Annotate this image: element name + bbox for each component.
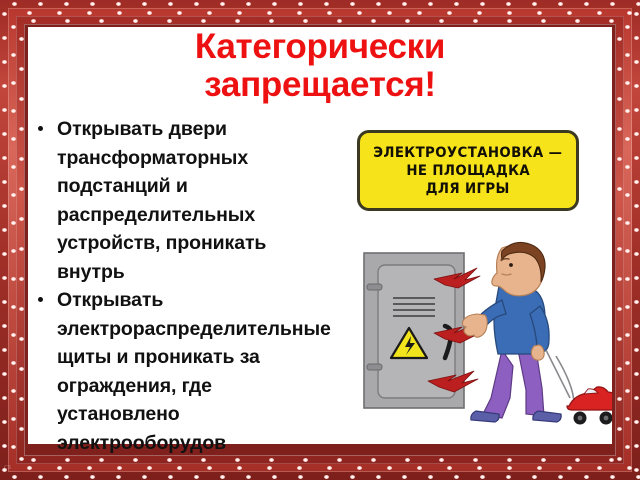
frame-light-dot — [636, 2, 640, 6]
frame-light-dot — [428, 475, 433, 479]
frame-light-dot — [38, 2, 43, 6]
frame-light-dot — [19, 337, 24, 341]
frame-light-dot — [87, 466, 92, 470]
frame-light-dot — [439, 19, 444, 23]
frame-light-dot — [2, 396, 7, 400]
frame-light-dot — [447, 11, 452, 15]
frame-light-dot — [634, 84, 639, 88]
frame-light-dot — [168, 475, 173, 479]
frame-light-dot — [541, 19, 546, 23]
frame-light-dot — [147, 11, 152, 15]
frame-light-dot — [405, 19, 410, 23]
frame-light-dot — [11, 333, 16, 337]
frame-light-dot — [617, 457, 622, 461]
frame-light-dot — [575, 19, 580, 23]
frame-light-dot — [371, 458, 376, 462]
frame-light-dot — [634, 204, 639, 208]
frame-light-dot — [625, 137, 630, 141]
page-title-line-1: Категорически — [34, 28, 606, 66]
frame-light-dot — [558, 475, 563, 479]
frame-light-dot — [2, 108, 7, 112]
frame-light-dot — [597, 11, 602, 15]
warning-sign-line-2: НЕ ПЛОЩАДКА — [406, 163, 530, 179]
frame-light-dot — [201, 19, 206, 23]
frame-light-dot — [2, 420, 7, 424]
frame-light-dot — [31, 19, 36, 23]
frame-light-dot — [11, 305, 16, 309]
frame-light-dot — [19, 67, 24, 71]
frame-light-dot — [507, 19, 512, 23]
frame-light-dot — [27, 11, 32, 15]
frame-light-dot — [269, 19, 274, 23]
warning-sign-line-3: ДЛЯ ИГРЫ — [426, 181, 510, 197]
frame-light-dot — [417, 466, 422, 470]
frame-light-dot — [2, 60, 7, 64]
frame-light-dot — [439, 458, 444, 462]
frame-light-dot — [177, 11, 182, 15]
frame-light-dot — [567, 466, 572, 470]
frame-light-dot — [168, 2, 173, 6]
frame-light-dot — [402, 2, 407, 6]
frame-light-dot — [625, 389, 630, 393]
frame-light-dot — [617, 397, 622, 401]
frame-light-dot — [532, 2, 537, 6]
frame-light-dot — [617, 367, 622, 371]
frame-light-dot — [11, 277, 16, 281]
frame-light-dot — [634, 12, 639, 16]
frame-light-dot — [19, 277, 24, 281]
list-item: Открывать электрораспределительные щиты … — [30, 286, 330, 457]
frame-light-dot — [617, 337, 622, 341]
frame-light-dot — [11, 137, 16, 141]
frame-light-dot — [636, 475, 640, 479]
frame-light-dot — [634, 180, 639, 184]
frame-light-dot — [303, 458, 308, 462]
frame-light-dot — [634, 108, 639, 112]
frame-light-dot — [237, 466, 242, 470]
frame-light-dot — [2, 300, 7, 304]
frame-light-dot — [537, 466, 542, 470]
frame-light-dot — [627, 11, 632, 15]
frame-light-dot — [537, 11, 542, 15]
frame-light-dot — [617, 157, 622, 161]
frame-light-dot — [133, 19, 138, 23]
frame-light-dot — [327, 11, 332, 15]
frame-light-dot — [405, 458, 410, 462]
frame-light-dot — [625, 333, 630, 337]
frame-light-dot — [303, 19, 308, 23]
frame-light-dot — [2, 276, 7, 280]
frame-light-dot — [297, 466, 302, 470]
frame-light-dot — [627, 466, 632, 470]
frame-light-dot — [2, 180, 7, 184]
frame-light-dot — [625, 81, 630, 85]
frame-light-dot — [11, 417, 16, 421]
frame-light-dot — [11, 249, 16, 253]
list-item-text: Открывать электрораспределительные щиты … — [57, 289, 331, 454]
list-item-text: Открывать двери трансформаторных подстан… — [57, 118, 266, 283]
slide: Категорически запрещается! Открывать две… — [0, 0, 640, 480]
frame-light-dot — [617, 427, 622, 431]
frame-light-dot — [11, 445, 16, 449]
frame-light-dot — [11, 361, 16, 365]
frame-light-dot — [2, 252, 7, 256]
frame-light-dot — [634, 132, 639, 136]
frame-light-dot — [428, 2, 433, 6]
frame-light-dot — [2, 444, 7, 448]
frame-light-dot — [87, 11, 92, 15]
frame-light-dot — [625, 53, 630, 57]
page-title: Категорически запрещается! — [34, 28, 606, 104]
frame-light-dot — [507, 458, 512, 462]
frame-light-dot — [272, 2, 277, 6]
frame-light-dot — [617, 67, 622, 71]
frame-light-dot — [12, 2, 17, 6]
child-figure-icon — [462, 242, 561, 422]
frame-light-dot — [272, 475, 277, 479]
frame-light-dot — [634, 396, 639, 400]
frame-light-dot — [2, 132, 7, 136]
frame-light-dot — [142, 475, 147, 479]
frame-light-dot — [235, 19, 240, 23]
prohibition-list: Открывать двери трансформаторных подстан… — [30, 115, 330, 457]
frame-light-dot — [19, 37, 24, 41]
frame-light-dot — [207, 11, 212, 15]
frame-light-dot — [634, 276, 639, 280]
frame-light-dot — [99, 458, 104, 462]
frame-light-dot — [625, 361, 630, 365]
frame-light-dot — [610, 2, 615, 6]
frame-light-dot — [237, 11, 242, 15]
frame-light-dot — [506, 2, 511, 6]
frame-light-dot — [11, 193, 16, 197]
frame-light-dot — [477, 11, 482, 15]
frame-light-dot — [11, 221, 16, 225]
frame-light-dot — [480, 475, 485, 479]
frame-light-dot — [2, 36, 7, 40]
frame-light-dot — [246, 475, 251, 479]
frame-light-dot — [597, 466, 602, 470]
frame-light-dot — [473, 19, 478, 23]
frame-light-dot — [298, 475, 303, 479]
frame-light-dot — [201, 458, 206, 462]
frame-light-dot — [625, 221, 630, 225]
warning-sign-line-1: ЭЛЕКТРОУСТАНОВКА — — [373, 145, 562, 161]
frame-light-dot — [116, 2, 121, 6]
frame-light-dot — [11, 81, 16, 85]
frame-light-dot — [19, 97, 24, 101]
frame-light-dot — [617, 97, 622, 101]
frame-light-dot — [625, 249, 630, 253]
frame-light-dot — [90, 475, 95, 479]
frame-light-dot — [454, 475, 459, 479]
frame-light-dot — [584, 475, 589, 479]
frame-light-dot — [2, 156, 7, 160]
frame-light-dot — [634, 372, 639, 376]
frame-light-dot — [2, 348, 7, 352]
frame-light-dot — [634, 36, 639, 40]
frame-light-dot — [625, 277, 630, 281]
frame-light-dot — [357, 11, 362, 15]
frame-light-dot — [532, 475, 537, 479]
bullet-icon — [38, 126, 43, 131]
frame-light-dot — [19, 187, 24, 191]
frame-light-dot — [117, 11, 122, 15]
frame-light-dot — [147, 466, 152, 470]
frame-light-dot — [167, 458, 172, 462]
frame-light-dot — [194, 2, 199, 6]
frame-light-dot — [11, 389, 16, 393]
frame-light-dot — [625, 109, 630, 113]
frame-light-dot — [267, 11, 272, 15]
frame-light-dot — [11, 109, 16, 113]
frame-light-dot — [324, 2, 329, 6]
frame-light-dot — [376, 2, 381, 6]
frame-light-dot — [99, 19, 104, 23]
frame-light-dot — [617, 217, 622, 221]
frame-light-dot — [297, 11, 302, 15]
frame-light-dot — [507, 466, 512, 470]
frame-light-dot — [634, 252, 639, 256]
frame-light-dot — [19, 397, 24, 401]
frame-light-dot — [269, 458, 274, 462]
frame-light-dot — [609, 458, 614, 462]
frame-light-dot — [387, 466, 392, 470]
frame-light-dot — [65, 19, 70, 23]
frame-light-dot — [11, 165, 16, 169]
frame-light-dot — [298, 2, 303, 6]
frame-light-dot — [220, 2, 225, 6]
frame-light-dot — [625, 305, 630, 309]
frame-light-dot — [617, 307, 622, 311]
frame-light-dot — [473, 458, 478, 462]
frame-light-dot — [133, 458, 138, 462]
frame-light-dot — [558, 2, 563, 6]
frame-light-dot — [634, 300, 639, 304]
frame-light-dot — [142, 2, 147, 6]
frame-light-dot — [116, 475, 121, 479]
frame-light-dot — [235, 458, 240, 462]
safety-illustration — [350, 238, 612, 438]
watermark: cs — [4, 462, 74, 476]
frame-light-dot — [19, 217, 24, 221]
frame-light-dot — [19, 157, 24, 161]
frame-light-dot — [177, 466, 182, 470]
frame-light-dot — [454, 2, 459, 6]
warning-sign: ЭЛЕКТРОУСТАНОВКА — НЕ ПЛОЩАДКА ДЛЯ ИГРЫ — [357, 130, 579, 211]
frame-light-dot — [337, 19, 342, 23]
bullet-icon — [38, 297, 43, 302]
frame-light-dot — [617, 127, 622, 131]
frame-light-dot — [625, 445, 630, 449]
frame-light-dot — [327, 466, 332, 470]
frame-light-dot — [2, 228, 7, 232]
frame-light-dot — [376, 475, 381, 479]
frame-light-dot — [64, 2, 69, 6]
frame-light-dot — [2, 84, 7, 88]
frame-light-dot — [634, 324, 639, 328]
frame-light-dot — [57, 11, 62, 15]
frame-light-dot — [417, 11, 422, 15]
frame-light-dot — [267, 466, 272, 470]
frame-light-dot — [575, 458, 580, 462]
frame-light-dot — [447, 466, 452, 470]
frame-light-dot — [194, 475, 199, 479]
frame-light-dot — [617, 187, 622, 191]
frame-light-dot — [350, 2, 355, 6]
frame-light-dot — [506, 475, 511, 479]
frame-light-dot — [634, 348, 639, 352]
frame-light-dot — [167, 19, 172, 23]
frame-light-dot — [220, 475, 225, 479]
frame-light-dot — [357, 466, 362, 470]
frame-light-dot — [371, 19, 376, 23]
frame-light-dot — [19, 127, 24, 131]
frame-light-dot — [634, 228, 639, 232]
frame-light-dot — [625, 25, 630, 29]
frame-light-dot — [2, 204, 7, 208]
frame-light-dot — [350, 475, 355, 479]
frame-light-dot — [610, 475, 615, 479]
frame-light-dot — [19, 307, 24, 311]
frame-light-dot — [634, 420, 639, 424]
frame-light-dot — [402, 475, 407, 479]
frame-light-dot — [625, 417, 630, 421]
frame-light-dot — [625, 193, 630, 197]
frame-light-dot — [609, 19, 614, 23]
frame-light-dot — [634, 444, 639, 448]
frame-light-dot — [617, 37, 622, 41]
list-item: Открывать двери трансформаторных подстан… — [30, 115, 330, 286]
frame-light-dot — [387, 11, 392, 15]
frame-light-dot — [617, 277, 622, 281]
frame-light-dot — [117, 466, 122, 470]
frame-light-dot — [584, 2, 589, 6]
frame-light-dot — [90, 2, 95, 6]
frame-light-dot — [19, 367, 24, 371]
frame-light-dot — [480, 2, 485, 6]
frame-light-dot — [19, 427, 24, 431]
frame-light-dot — [19, 457, 24, 461]
frame-light-dot — [477, 466, 482, 470]
frame-light-dot — [2, 324, 7, 328]
frame-light-dot — [11, 25, 16, 29]
frame-light-dot — [567, 11, 572, 15]
frame-light-dot — [2, 372, 7, 376]
frame-light-dot — [617, 247, 622, 251]
frame-light-dot — [634, 156, 639, 160]
frame-light-dot — [2, 12, 7, 16]
frame-light-dot — [634, 60, 639, 64]
frame-light-dot — [625, 165, 630, 169]
frame-light-dot — [246, 2, 251, 6]
frame-light-dot — [507, 11, 512, 15]
page-title-line-2: запрещается! — [34, 66, 606, 104]
frame-light-dot — [541, 458, 546, 462]
frame-light-dot — [207, 466, 212, 470]
frame-light-dot — [634, 468, 639, 472]
frame-light-dot — [324, 475, 329, 479]
frame-light-dot — [11, 53, 16, 57]
frame-light-dot — [337, 458, 342, 462]
frame-light-dot — [19, 247, 24, 251]
